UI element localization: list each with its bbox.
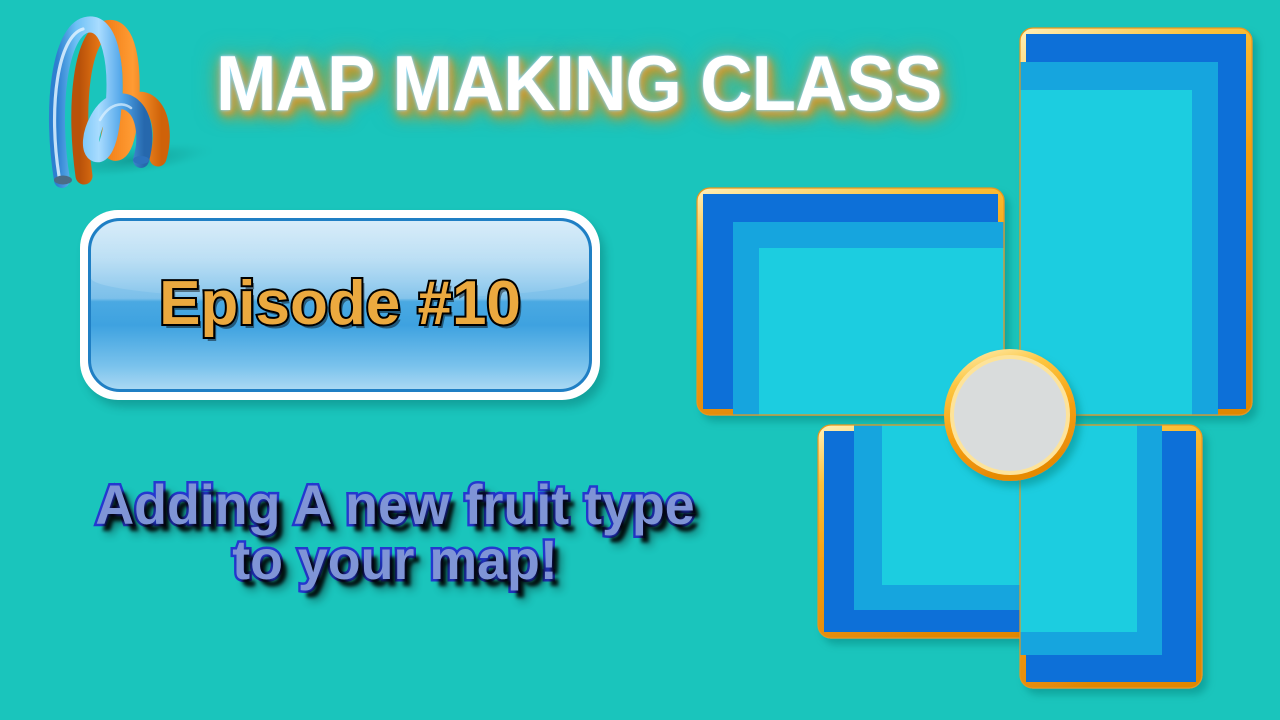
video-thumbnail-canvas: MAP MAKING CLASS Episode #10 Adding A ne…	[0, 0, 1280, 720]
subtitle-block: Adding A new fruit type to your map!	[16, 478, 774, 588]
logo-ribbon-foot-right	[133, 156, 149, 164]
ribbon-m-logo	[22, 8, 212, 193]
subtitle-line-1: Adding A new fruit type	[16, 478, 774, 533]
four-blade-pinwheel-graphic	[670, 0, 1280, 720]
subtitle-line-2: to your map!	[16, 533, 774, 588]
episode-badge-label: Episode #10	[91, 268, 589, 339]
logo-ribbon-foot	[54, 176, 72, 185]
episode-badge-button[interactable]: Episode #10	[80, 210, 600, 400]
pinwheel-hub	[944, 349, 1076, 481]
episode-badge-surface: Episode #10	[88, 218, 592, 392]
